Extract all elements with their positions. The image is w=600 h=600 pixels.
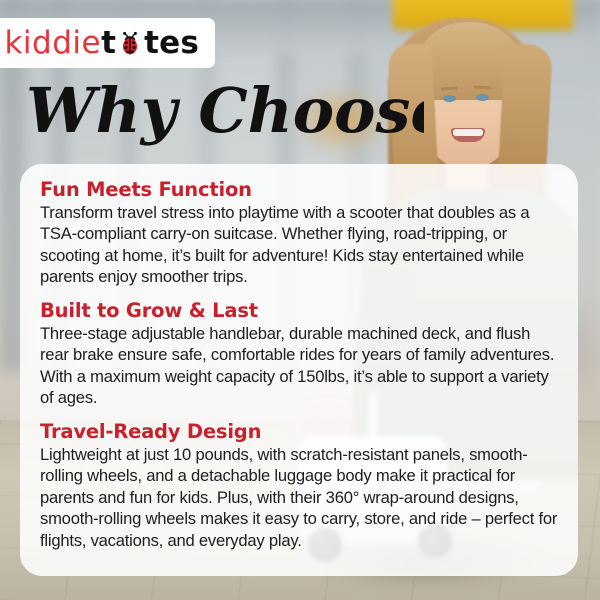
- eye-left: [443, 95, 456, 102]
- benefit-section-1: Fun Meets Function Transform travel stre…: [40, 178, 558, 288]
- benefit-section-2: Built to Grow & Last Three-stage adjusta…: [40, 299, 558, 409]
- benefit-heading: Travel-Ready Design: [40, 420, 558, 443]
- logo-text-t: t: [101, 28, 116, 59]
- benefit-heading: Built to Grow & Last: [40, 299, 558, 322]
- benefit-body: Three-stage adjustable handlebar, durabl…: [40, 323, 558, 409]
- benefit-body: Lightweight at just 10 pounds, with scra…: [40, 444, 558, 551]
- logo-text-kiddie: kiddie: [4, 28, 101, 59]
- logo-text-tes: tes: [144, 28, 199, 59]
- page-title: Why Choose Us: [24, 74, 424, 150]
- benefit-section-3: Travel-Ready Design Lightweight at just …: [40, 420, 558, 551]
- benefits-card: Fun Meets Function Transform travel stre…: [20, 164, 578, 576]
- ladybug-icon: [117, 30, 143, 56]
- mouth: [451, 128, 485, 142]
- benefit-heading: Fun Meets Function: [40, 178, 558, 201]
- teeth: [453, 129, 483, 136]
- marketing-graphic: kiddie t tes: [0, 0, 600, 600]
- brand-logo-badge[interactable]: kiddie t tes: [0, 18, 215, 68]
- brand-logo: kiddie t tes: [4, 27, 199, 59]
- page-title-text: Why Choose Us: [26, 74, 424, 147]
- eye-right: [476, 94, 489, 101]
- benefit-body: Transform travel stress into playtime wi…: [40, 202, 558, 288]
